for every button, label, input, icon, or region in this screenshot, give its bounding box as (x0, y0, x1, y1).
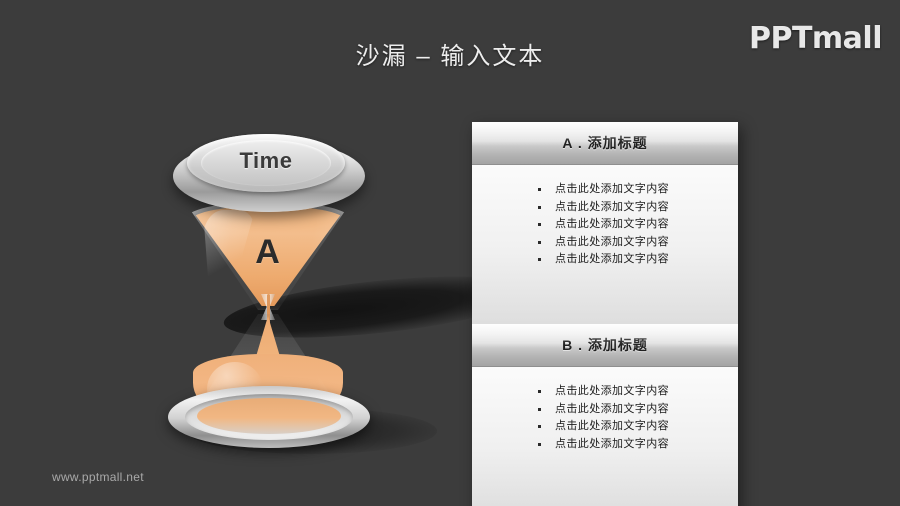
hourglass-graphic: A B Time (163, 118, 373, 448)
panel-header-b[interactable]: B . 添加标题 (472, 324, 738, 367)
list-item[interactable]: 点击此处添加文字内容 (538, 436, 738, 454)
panel-body-a: 点击此处添加文字内容 点击此处添加文字内容 点击此处添加文字内容 点击此处添加文… (472, 165, 738, 324)
pptmall-logo[interactable]: PPTmall (749, 24, 882, 54)
footer-website-url: www.pptmall.net (52, 470, 144, 484)
panel-header-a[interactable]: A . 添加标题 (472, 122, 738, 165)
list-item[interactable]: 点击此处添加文字内容 (538, 199, 738, 217)
list-item[interactable]: 点击此处添加文字内容 (538, 383, 738, 401)
hourglass-upper-label: A (163, 233, 373, 272)
logo-text-primary: PPT (749, 21, 812, 56)
hourglass-cap-label: Time (201, 148, 331, 174)
hourglass-base-well (197, 398, 341, 434)
bullet-list-a: 点击此处添加文字内容 点击此处添加文字内容 点击此处添加文字内容 点击此处添加文… (472, 181, 738, 269)
panel-body-b: 点击此处添加文字内容 点击此处添加文字内容 点击此处添加文字内容 点击此处添加文… (472, 367, 738, 506)
slide-canvas: 沙漏 – 输入文本 PPTmall www.pptmall.net A B Ti… (0, 0, 900, 506)
logo-text-secondary: mall (812, 21, 882, 56)
list-item[interactable]: 点击此处添加文字内容 (538, 234, 738, 252)
bullet-list-b: 点击此处添加文字内容 点击此处添加文字内容 点击此处添加文字内容 点击此处添加文… (472, 383, 738, 453)
list-item[interactable]: 点击此处添加文字内容 (538, 418, 738, 436)
list-item[interactable]: 点击此处添加文字内容 (538, 181, 738, 199)
list-item[interactable]: 点击此处添加文字内容 (538, 216, 738, 234)
list-item[interactable]: 点击此处添加文字内容 (538, 251, 738, 269)
list-item[interactable]: 点击此处添加文字内容 (538, 401, 738, 419)
content-panel-stack: A . 添加标题 点击此处添加文字内容 点击此处添加文字内容 点击此处添加文字内… (472, 122, 738, 506)
